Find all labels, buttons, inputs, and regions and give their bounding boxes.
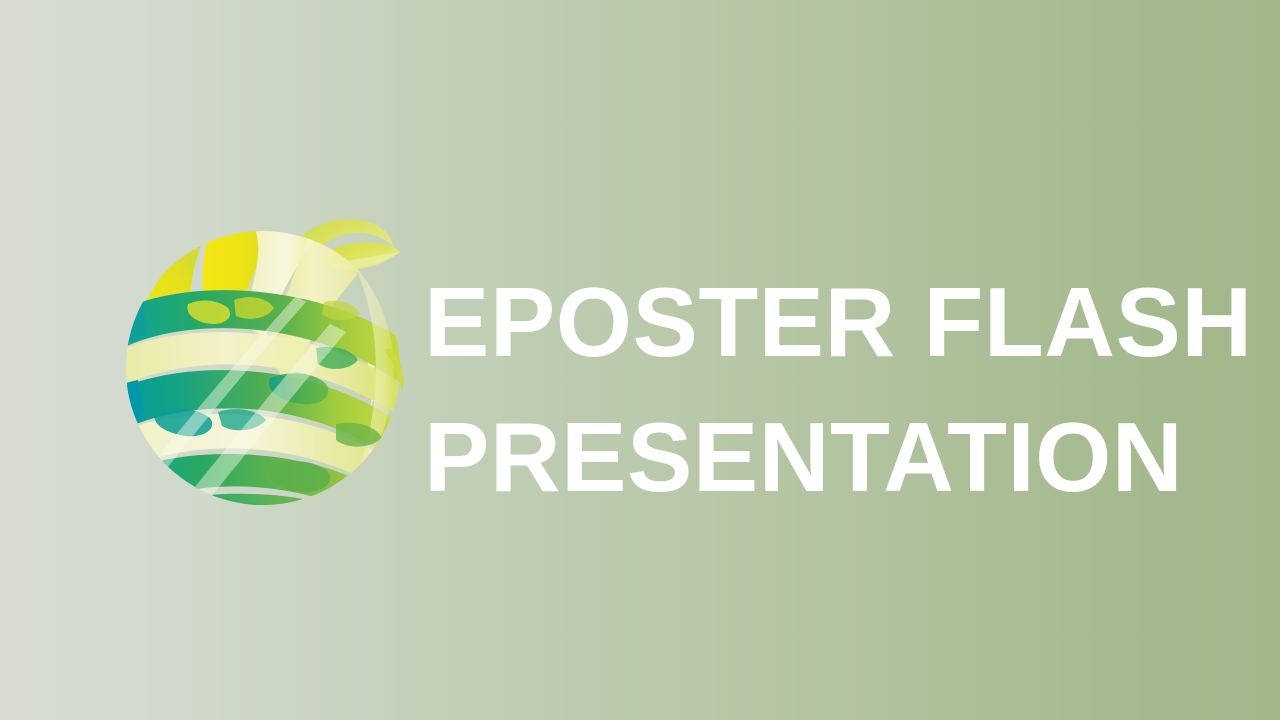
title-line-1: EPOSTER FLASH — [424, 255, 1184, 390]
band-curl-3 — [118, 462, 150, 513]
globe-logo-svg — [118, 208, 408, 513]
slide-canvas: EPOSTER FLASH PRESENTATION — [0, 0, 1280, 720]
slide-title: EPOSTER FLASH PRESENTATION — [424, 255, 1184, 525]
globe-ribbon-logo — [118, 208, 408, 513]
title-line-2: PRESENTATION — [424, 390, 1184, 525]
band-bottom — [128, 494, 408, 513]
